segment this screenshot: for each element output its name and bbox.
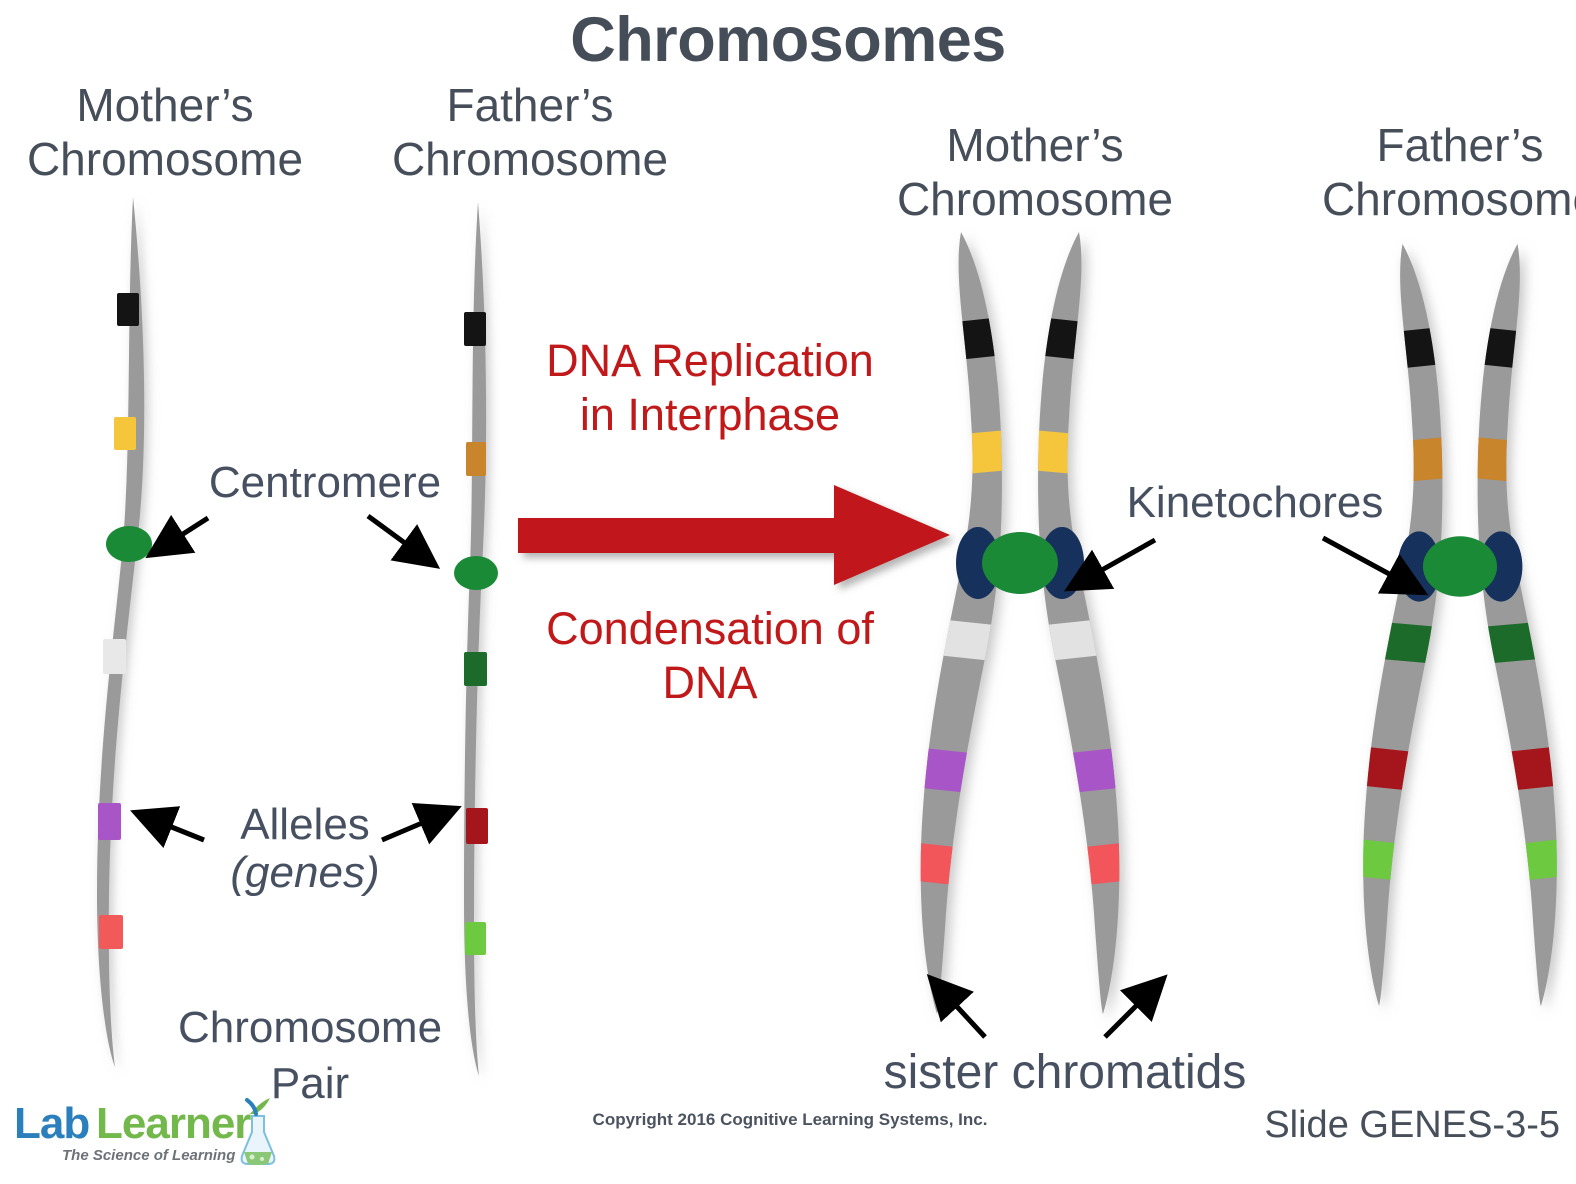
page-title: Chromosomes: [0, 4, 1576, 76]
sister-chromatids-arrows: [915, 975, 1205, 1050]
arrow-to-father-centromere: [368, 516, 428, 560]
logo-lab-text: Lab: [14, 1099, 89, 1148]
dark-green-band: [1434, 620, 1568, 668]
alleles-arrows: [130, 798, 490, 858]
yellow-band: [114, 417, 136, 450]
white-band: [998, 616, 1131, 665]
salmon-band: [898, 841, 1031, 892]
mother-unreplicated-chromosome[interactable]: [75, 195, 205, 1075]
dark-green-band: [464, 652, 487, 686]
right-mother-chromosome-heading: Mother’s Chromosome: [870, 118, 1200, 226]
yellow-band: [1003, 428, 1126, 478]
father-replicated-chromosome[interactable]: [1345, 240, 1575, 1010]
salmon-band: [99, 915, 123, 949]
salmon-band: [1008, 841, 1141, 892]
copyright-text: Copyright 2016 Cognitive Learning System…: [440, 1110, 1140, 1130]
black-band: [1356, 324, 1476, 373]
kinetochores-label: Kinetochores: [1080, 478, 1430, 528]
dark-red-band: [1444, 745, 1574, 797]
sister-chromatids-label: sister chromatids: [830, 1048, 1300, 1098]
dark-red-band: [1346, 745, 1476, 797]
purple-band: [1003, 746, 1136, 799]
arrow-to-father-kinetochore: [1323, 538, 1415, 588]
arrow-to-father-allele: [382, 812, 448, 840]
yellow-band: [913, 428, 1036, 478]
slide-number-label: Slide GENES-3-5: [1130, 1104, 1560, 1147]
white-band: [103, 639, 126, 674]
black-band: [913, 314, 1036, 364]
kinetochores-arrows: [1055, 528, 1455, 618]
left-mother-chromosome-heading: Mother’s Chromosome: [10, 78, 320, 186]
arrow-to-right-chromatid: [1105, 985, 1157, 1037]
centromere[interactable]: [982, 532, 1058, 594]
dark-green-band: [1351, 620, 1485, 668]
right-father-chromosome-heading: Father’s Chromosome: [1295, 118, 1576, 226]
black-band: [464, 312, 486, 346]
purple-band: [903, 746, 1036, 799]
dna-condensation-label: Condensation of DNA: [510, 602, 910, 710]
light-green-band: [1449, 838, 1576, 888]
light-green-band: [1341, 838, 1471, 888]
arrow-shape: [518, 485, 950, 585]
light-green-band: [465, 922, 486, 955]
white-band: [908, 616, 1041, 665]
black-band: [117, 293, 139, 326]
arrow-to-mother-kinetochore: [1077, 540, 1155, 584]
logo-tagline: The Science of Learning: [62, 1147, 235, 1164]
black-band: [1444, 324, 1564, 373]
dna-replication-label: DNA Replication in Interphase: [510, 334, 910, 442]
left-father-chromosome-heading: Father’s Chromosome: [370, 78, 690, 186]
mother-replicated-chromosome[interactable]: [905, 228, 1135, 1018]
arrow-to-mother-centromere: [158, 518, 208, 550]
brown-band: [1439, 434, 1564, 485]
lablearner-logo[interactable]: Lab Learner The Science of Learning: [14, 1094, 284, 1172]
process-arrow-icon: [518, 483, 958, 588]
black-band: [1003, 314, 1126, 364]
purple-band: [98, 803, 121, 840]
logo-learner-text: Learner: [96, 1099, 251, 1148]
centromere-arrows: [140, 500, 490, 590]
arrow-to-mother-allele: [144, 816, 204, 840]
arrow-to-left-chromatid: [937, 985, 985, 1037]
